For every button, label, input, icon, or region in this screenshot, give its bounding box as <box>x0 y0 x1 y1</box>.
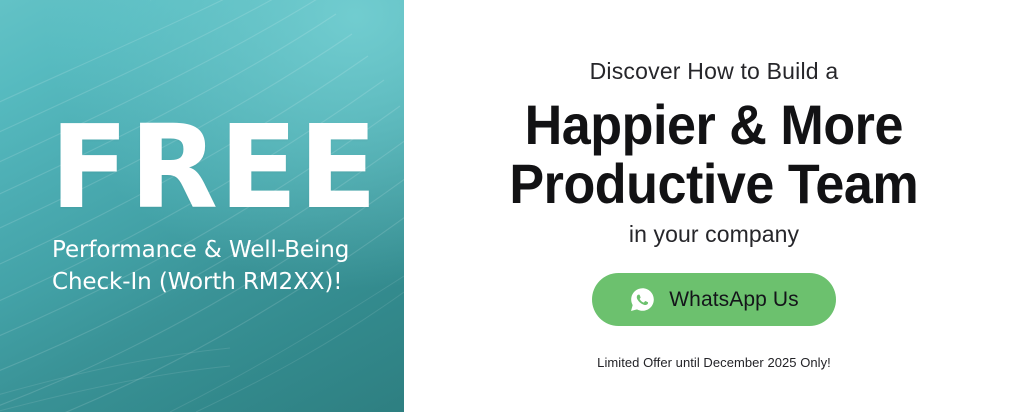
free-offer-description-line-2: Check-In (Worth RM2XX)! <box>52 266 349 299</box>
promo-banner: FREE Performance & Well-Being Check-In (… <box>0 0 1024 412</box>
eyebrow-text: Discover How to Build a <box>590 58 839 86</box>
whatsapp-icon <box>629 286 656 313</box>
free-offer-description: Performance & Well-Being Check-In (Worth… <box>52 234 349 299</box>
whatsapp-us-button[interactable]: WhatsApp Us <box>592 273 836 326</box>
message-panel: Discover How to Build a Happier & More P… <box>404 0 1024 412</box>
free-offer-description-line-1: Performance & Well-Being <box>52 234 349 267</box>
free-headline: FREE <box>50 113 378 223</box>
main-headline: Happier & More Productive Team <box>510 95 919 214</box>
free-offer-panel: FREE Performance & Well-Being Check-In (… <box>0 0 404 412</box>
free-offer-content: FREE Performance & Well-Being Check-In (… <box>0 0 404 412</box>
headline-subline: in your company <box>629 221 799 248</box>
limited-offer-disclaimer: Limited Offer until December 2025 Only! <box>597 355 831 370</box>
whatsapp-us-label: WhatsApp Us <box>669 288 798 312</box>
main-headline-line-2: Productive Team <box>510 154 919 213</box>
main-headline-line-1: Happier & More <box>510 95 919 154</box>
